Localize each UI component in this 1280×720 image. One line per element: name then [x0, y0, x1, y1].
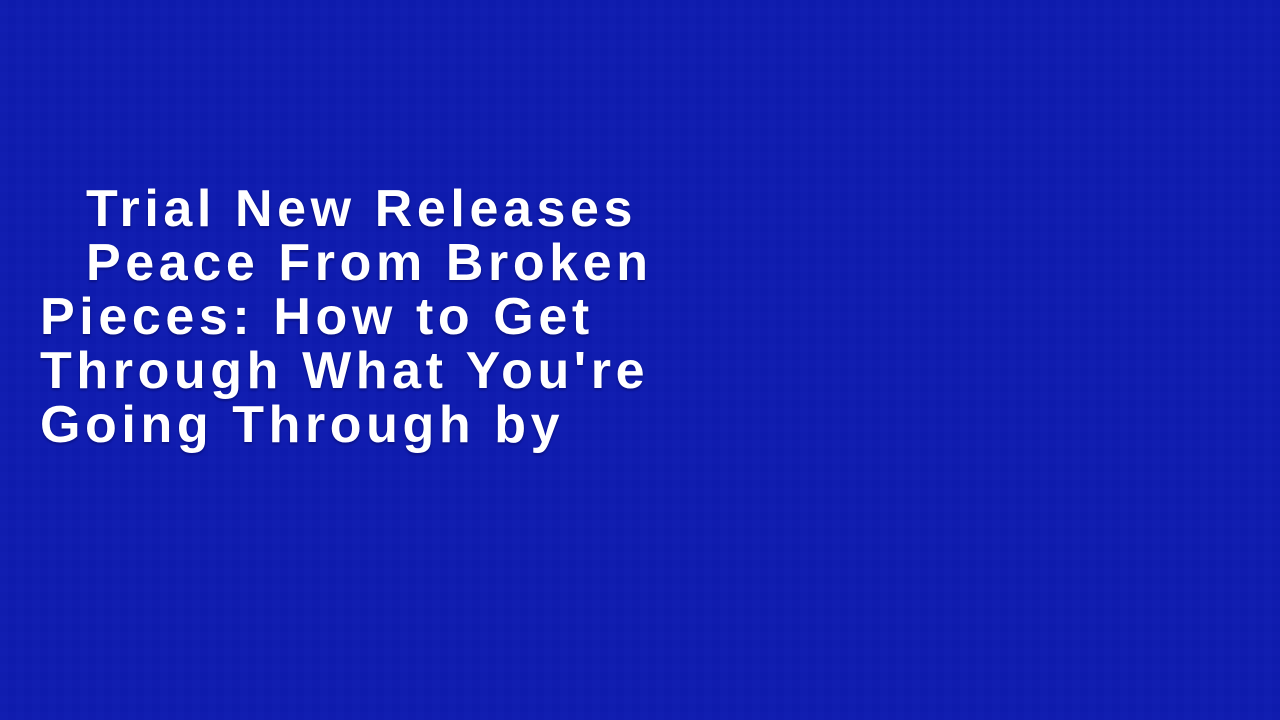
promo-line-4: Through What You're	[0, 344, 1280, 398]
promo-line-3: Pieces: How to Get	[0, 290, 1280, 344]
promo-line-5: Going Through by	[0, 398, 1280, 452]
promo-line-1: Trial New Releases	[0, 182, 1280, 236]
promo-text-block: Trial New Releases Peace From Broken Pie…	[0, 182, 1280, 452]
promo-screen: Trial New Releases Peace From Broken Pie…	[0, 0, 1280, 720]
promo-line-2: Peace From Broken	[0, 236, 1280, 290]
